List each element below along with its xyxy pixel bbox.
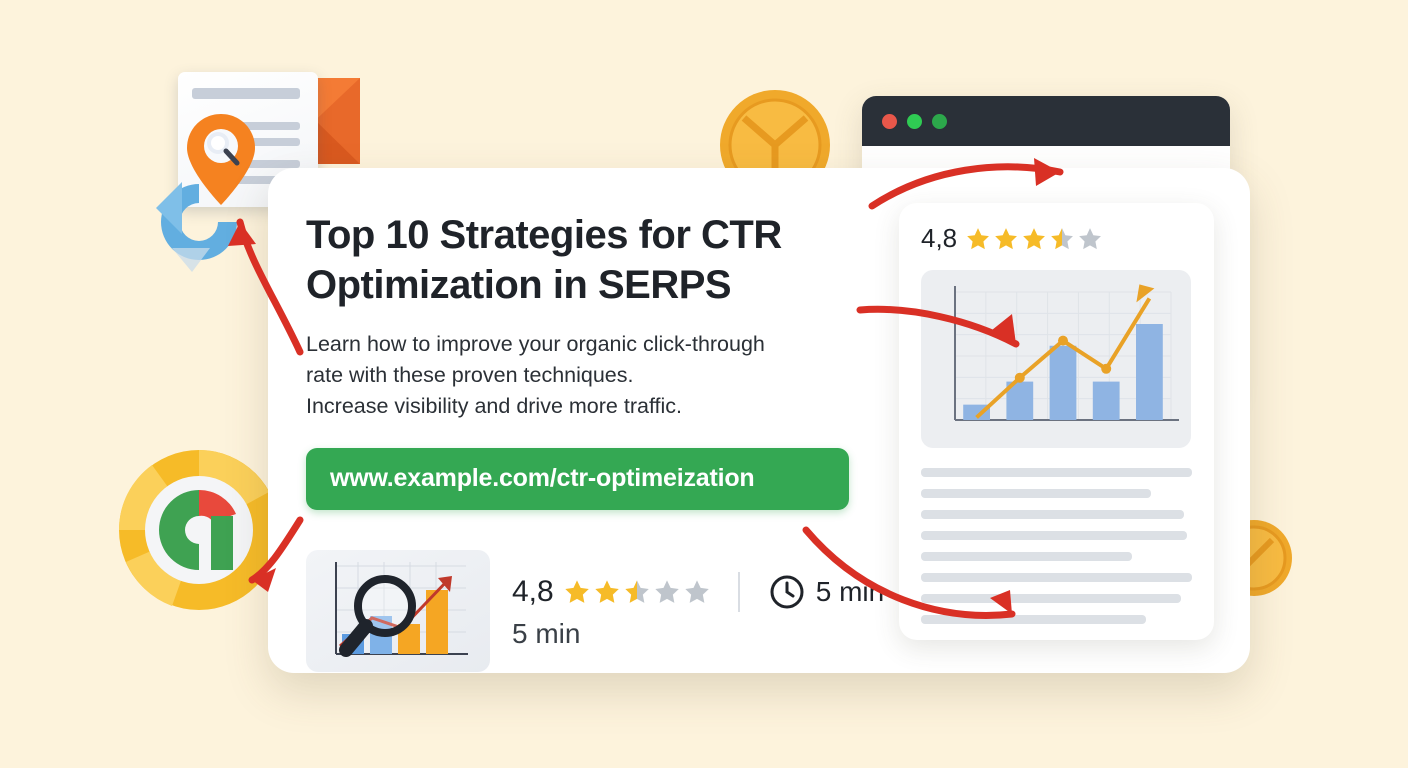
skeleton-line (921, 552, 1132, 561)
rating-row: 4,8 (512, 572, 884, 612)
serp-content-column: Top 10 Strategies for CTR Optimization i… (306, 210, 876, 510)
secondary-read-time: 5 min (512, 618, 884, 650)
skeleton-line (921, 531, 1187, 540)
meta-divider (738, 572, 740, 612)
star-icon-filled (965, 226, 991, 252)
skeleton-line (921, 615, 1146, 624)
browser-content-panel: 4,8 (899, 203, 1214, 640)
chart-point (1101, 364, 1111, 374)
star-icon-half (623, 578, 651, 606)
panel-rating-row: 4,8 (921, 223, 1192, 254)
skeleton-line (921, 489, 1151, 498)
clock-icon (767, 572, 807, 612)
star-icon-filled (563, 578, 591, 606)
skeleton-line (921, 510, 1184, 519)
panel-rating-value: 4,8 (921, 223, 957, 254)
chart-bar (1050, 346, 1077, 420)
star-icon-empty (653, 578, 681, 606)
chart-bar (1093, 382, 1120, 420)
skeleton-line (921, 594, 1181, 603)
star-rating (563, 578, 711, 606)
panel-star-rating (965, 226, 1103, 252)
skeleton-line (921, 573, 1192, 582)
infographic-canvas: Top 10 Strategies for CTR Optimization i… (0, 0, 1408, 768)
star-icon-half (1049, 226, 1075, 252)
traffic-light-maximize-icon[interactable] (932, 114, 947, 129)
serp-meta-text: 4,8 (512, 550, 884, 650)
read-time: 5 min (816, 576, 884, 608)
star-icon-filled (593, 578, 621, 606)
bar-chart-magnifier-thumbnail (306, 550, 490, 672)
serp-meta-row: 4,8 (306, 550, 884, 672)
star-icon-empty (683, 578, 711, 606)
page-title: Top 10 Strategies for CTR Optimization i… (306, 210, 876, 311)
chart-point (1058, 336, 1068, 346)
description-line: Increase visibility and drive more traff… (306, 391, 876, 422)
star-icon-empty (1077, 226, 1103, 252)
description-line: Learn how to improve your organic click-… (306, 329, 876, 360)
skeleton-line (921, 468, 1192, 477)
browser-title-bar (862, 96, 1230, 146)
donut-chart-google-icon (112, 440, 287, 620)
blue-ring-icon (152, 178, 247, 276)
chart-point (1015, 373, 1025, 383)
url-button[interactable]: www.example.com/ctr-optimeization (306, 448, 849, 510)
star-icon-filled (993, 226, 1019, 252)
description-line: rate with these proven techniques. (306, 360, 876, 391)
skeleton-text-block (921, 468, 1192, 624)
star-icon-filled (1021, 226, 1047, 252)
bar-chart (921, 270, 1191, 448)
traffic-light-minimize-icon[interactable] (907, 114, 922, 129)
serp-description: Learn how to improve your organic click-… (306, 329, 876, 422)
traffic-light-close-icon[interactable] (882, 114, 897, 129)
chart-bar (1136, 324, 1163, 420)
chart-arrowhead-icon (1136, 284, 1154, 302)
rating-value: 4,8 (512, 575, 554, 609)
